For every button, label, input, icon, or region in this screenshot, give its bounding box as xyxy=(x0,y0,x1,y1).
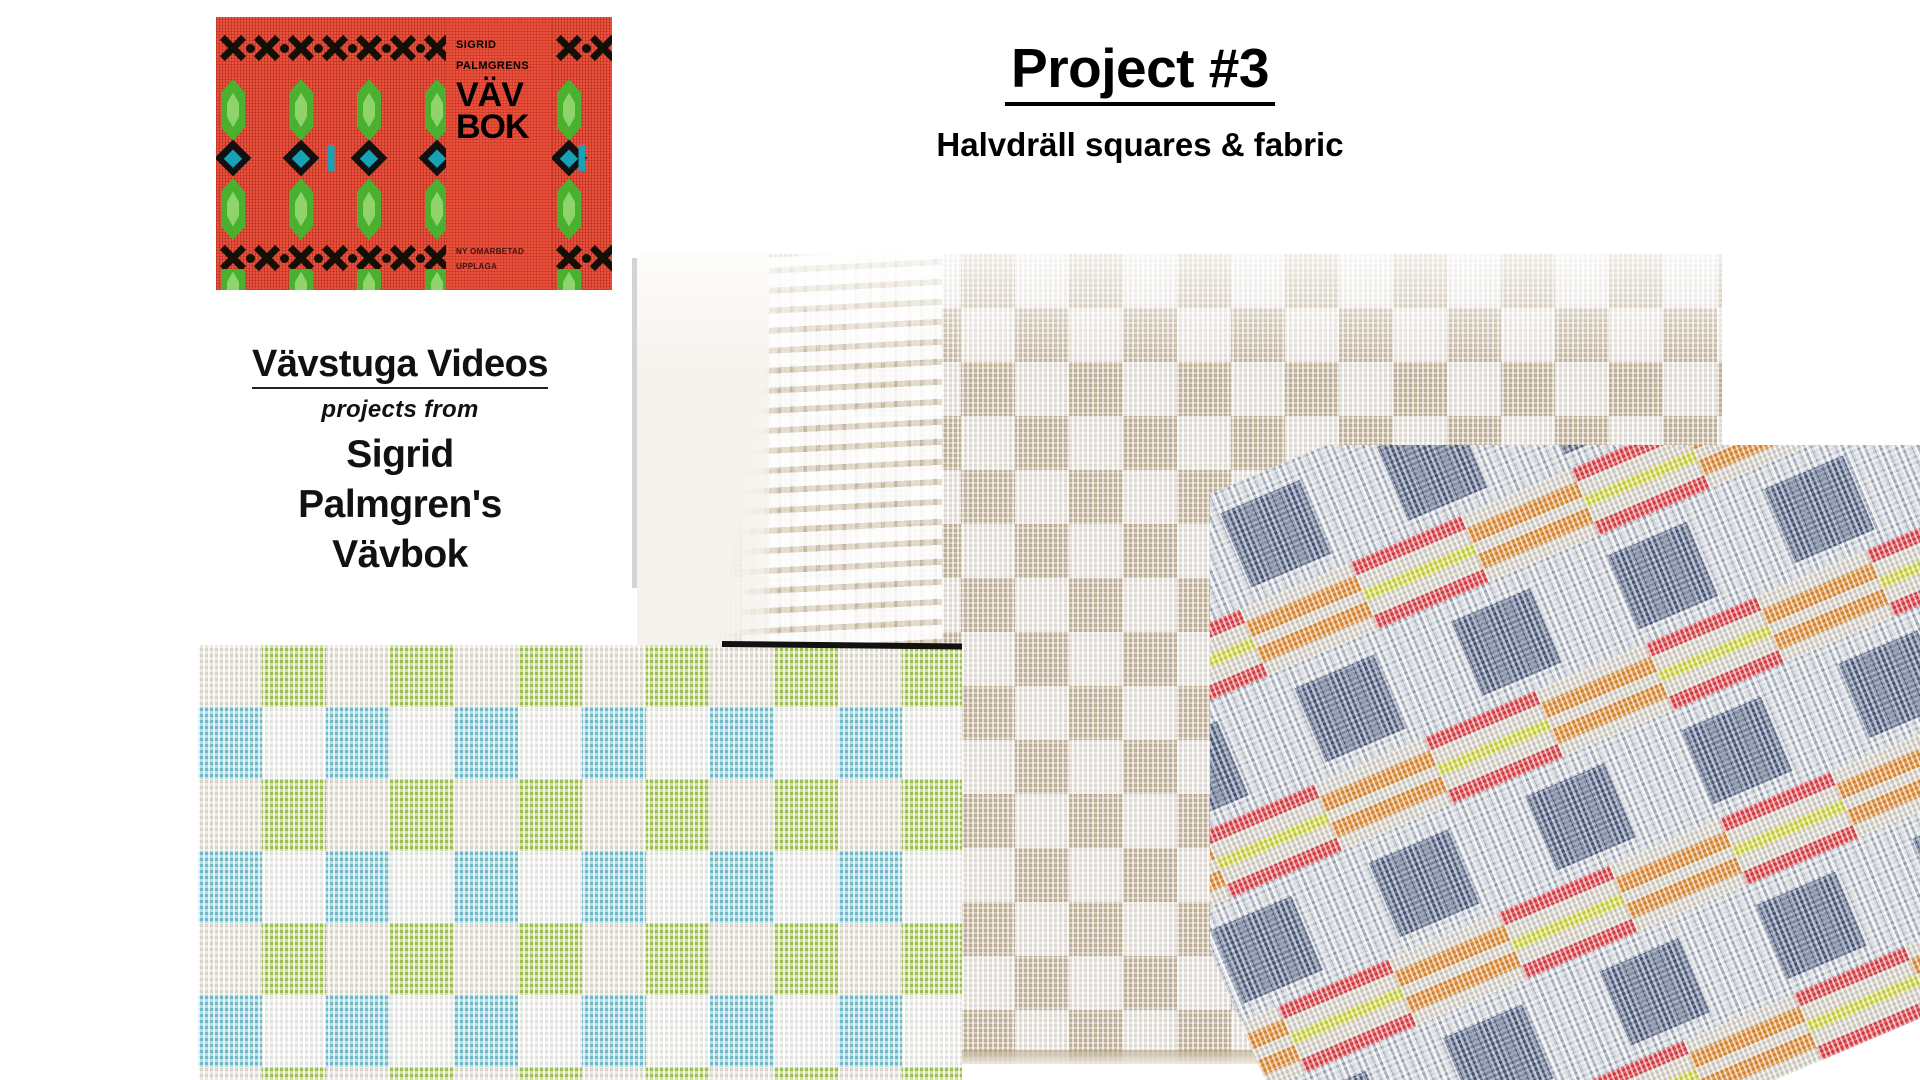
checker-cell xyxy=(774,779,838,851)
checker-cell xyxy=(326,851,390,923)
credit-name-line-1: Sigrid xyxy=(180,430,620,480)
book-title-block: VÄV BOK xyxy=(456,79,529,144)
slide-canvas: SIGRID PALMGRENS VÄV BOK NY OMARBETAD UP… xyxy=(0,0,1920,1080)
checker-cell xyxy=(902,779,962,851)
checker-cell xyxy=(646,851,710,923)
checker-cell xyxy=(582,995,646,1067)
checker-cell xyxy=(774,995,838,1067)
credit-name-line-3: Vävbok xyxy=(180,530,620,580)
checker-cell xyxy=(710,645,774,707)
book-title-line-2: BOK xyxy=(456,111,529,143)
green-blue-checker-rows xyxy=(198,645,962,1080)
checker-cell xyxy=(198,1067,262,1080)
navy-square xyxy=(1451,588,1561,695)
checker-cell xyxy=(454,707,518,779)
checker-cell xyxy=(774,1067,838,1080)
checker-cell xyxy=(326,923,390,995)
checker-cell xyxy=(774,851,838,923)
checker-cell xyxy=(262,645,326,707)
checker-cell xyxy=(198,851,262,923)
navy-square xyxy=(1295,655,1405,762)
checker-row xyxy=(198,645,962,707)
checker-row xyxy=(198,707,962,779)
checker-cell xyxy=(582,1067,646,1080)
checker-cell xyxy=(838,779,902,851)
checker-cell xyxy=(710,707,774,779)
navy-square xyxy=(1443,1005,1553,1080)
checker-cell xyxy=(454,779,518,851)
checker-cell xyxy=(774,645,838,707)
page-subtitle: Halvdräll squares & fabric xyxy=(640,126,1640,164)
book-footer-line-1: NY OMARBETAD xyxy=(456,245,524,259)
checker-cell xyxy=(902,1067,962,1080)
credit-source-name: Sigrid Palmgren's Vävbok xyxy=(180,430,620,580)
checker-cell xyxy=(454,645,518,707)
navy-square xyxy=(1764,456,1874,563)
book-author-line-2: PALMGRENS xyxy=(456,56,529,77)
checker-cell xyxy=(390,995,454,1067)
checker-cell xyxy=(390,645,454,707)
checker-cell xyxy=(518,707,582,779)
checker-cell xyxy=(262,923,326,995)
checker-cell xyxy=(774,923,838,995)
checker-cell xyxy=(902,851,962,923)
checker-cell xyxy=(518,851,582,923)
checker-cell xyxy=(518,645,582,707)
checker-cell xyxy=(262,707,326,779)
checker-cell xyxy=(262,779,326,851)
checker-cell xyxy=(838,707,902,779)
checker-cell xyxy=(390,851,454,923)
checker-cell xyxy=(646,779,710,851)
checker-cell xyxy=(326,995,390,1067)
checker-row xyxy=(198,851,962,923)
checker-cell xyxy=(582,851,646,923)
book-title-line-1: VÄV xyxy=(456,79,529,111)
book-cover-right-pattern xyxy=(552,17,612,290)
navy-square xyxy=(1838,631,1920,738)
checker-cell xyxy=(454,1067,518,1080)
navy-square xyxy=(1830,1047,1920,1080)
navy-red-pattern-rows xyxy=(1210,445,1920,1080)
checker-cell xyxy=(838,1067,902,1080)
navy-square xyxy=(1210,721,1249,828)
photo-navy-red-halvdrall-fabric xyxy=(1210,445,1920,1080)
book-footer-block: NY OMARBETAD UPPLAGA xyxy=(456,245,524,274)
checker-cell xyxy=(326,779,390,851)
checker-cell xyxy=(198,779,262,851)
navy-square xyxy=(1220,480,1330,587)
checker-cell xyxy=(582,707,646,779)
navy-square xyxy=(1608,522,1718,629)
checker-cell xyxy=(646,923,710,995)
checker-cell xyxy=(646,707,710,779)
checker-cell xyxy=(902,923,962,995)
beige-fabric-top-highlight xyxy=(637,254,1722,374)
checker-cell xyxy=(646,995,710,1067)
checker-cell xyxy=(838,923,902,995)
checker-cell xyxy=(518,1067,582,1080)
book-footer-line-2: UPPLAGA xyxy=(456,260,524,274)
checker-cell xyxy=(518,995,582,1067)
checker-cell xyxy=(454,851,518,923)
checker-cell xyxy=(390,1067,454,1080)
checker-cell xyxy=(582,779,646,851)
checker-cell xyxy=(710,779,774,851)
checker-cell xyxy=(838,995,902,1067)
checker-cell xyxy=(454,995,518,1067)
navy-square xyxy=(1369,830,1479,937)
checker-cell xyxy=(326,645,390,707)
book-cover-image: SIGRID PALMGRENS VÄV BOK NY OMARBETAD UP… xyxy=(216,17,612,290)
checker-cell xyxy=(710,1067,774,1080)
checker-row xyxy=(198,1067,962,1080)
credit-name-line-2: Palmgren's xyxy=(180,480,620,530)
navy-square xyxy=(1377,445,1487,521)
checker-cell xyxy=(518,779,582,851)
navy-red-fabric-plane xyxy=(1210,445,1920,1080)
book-cover-left-pattern xyxy=(216,17,446,290)
checker-cell xyxy=(262,995,326,1067)
checker-cell xyxy=(838,851,902,923)
book-cover-text-panel: SIGRID PALMGRENS VÄV BOK NY OMARBETAD UP… xyxy=(446,17,552,290)
credit-lead-in: projects from xyxy=(180,396,620,424)
checker-cell xyxy=(902,707,962,779)
checker-cell xyxy=(646,1067,710,1080)
navy-square xyxy=(1525,763,1635,870)
checker-cell xyxy=(198,645,262,707)
checker-cell xyxy=(518,923,582,995)
checker-cell xyxy=(454,923,518,995)
book-leaf-band-edge xyxy=(216,269,446,290)
checker-cell xyxy=(838,645,902,707)
checker-cell xyxy=(774,707,838,779)
checker-cell xyxy=(390,779,454,851)
book-author-line-1: SIGRID xyxy=(456,35,529,56)
navy-square xyxy=(1600,938,1710,1045)
credit-heading: Vävstuga Videos xyxy=(252,345,548,389)
checker-cell xyxy=(198,995,262,1067)
navy-square xyxy=(1756,872,1866,979)
checker-cell xyxy=(710,851,774,923)
checker-cell xyxy=(390,923,454,995)
checker-cell xyxy=(262,851,326,923)
checker-cell xyxy=(710,923,774,995)
checker-cell xyxy=(390,707,454,779)
checker-cell xyxy=(198,923,262,995)
checker-cell xyxy=(710,995,774,1067)
navy-square xyxy=(1682,697,1792,804)
navy-square xyxy=(1913,805,1920,912)
checker-cell xyxy=(582,645,646,707)
checker-cell xyxy=(326,707,390,779)
photo-green-blue-halvdrall-squares xyxy=(198,645,962,1080)
checker-cell xyxy=(646,645,710,707)
checker-cell xyxy=(326,1067,390,1080)
checker-row xyxy=(198,779,962,851)
book-author-block: SIGRID PALMGRENS xyxy=(456,35,529,77)
credit-block: Vävstuga Videos projects from Sigrid Pal… xyxy=(180,345,620,580)
book-dot-row xyxy=(233,25,446,71)
checker-cell xyxy=(262,1067,326,1080)
checker-cell xyxy=(198,707,262,779)
title-block: Project #3 Halvdräll squares & fabric xyxy=(640,40,1640,164)
checker-row xyxy=(198,923,962,995)
checker-cell xyxy=(582,923,646,995)
checker-row xyxy=(198,995,962,1067)
navy-square xyxy=(1212,896,1322,1003)
page-title: Project #3 xyxy=(1005,40,1275,106)
checker-cell xyxy=(902,995,962,1067)
checker-cell xyxy=(902,645,962,707)
